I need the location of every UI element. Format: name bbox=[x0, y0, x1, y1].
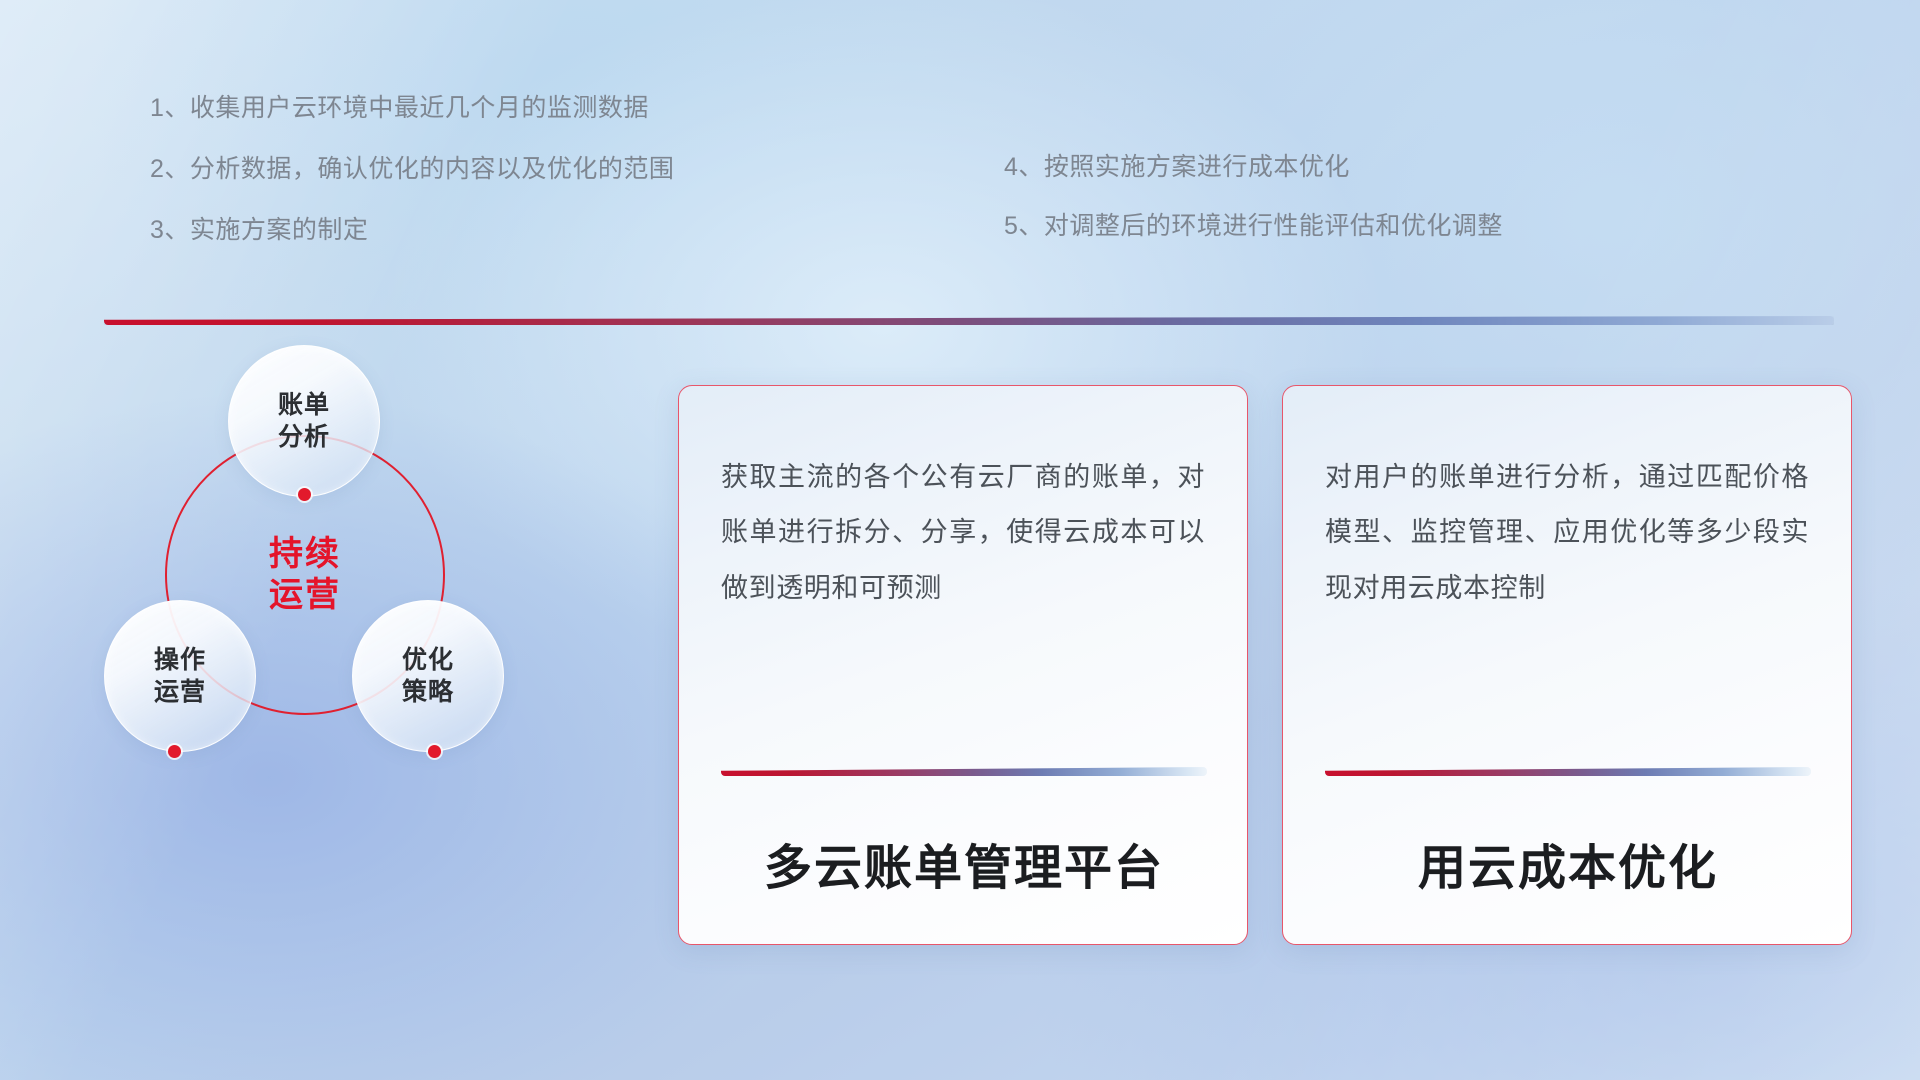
step-item-1: 1、收集用户云环境中最近几个月的监测数据 bbox=[150, 96, 674, 121]
step-item-4: 4、按照实施方案进行成本优化 bbox=[1004, 155, 1503, 180]
step-item-5: 5、对调整后的环境进行性能评估和优化调整 bbox=[1004, 214, 1503, 239]
card-divider bbox=[1325, 767, 1811, 776]
connector-dot-bottom-left bbox=[168, 745, 181, 758]
connector-dot-top bbox=[298, 488, 311, 501]
connector-dot-bottom-right bbox=[428, 745, 441, 758]
slide-canvas: 1、收集用户云环境中最近几个月的监测数据 2、分析数据，确认优化的内容以及优化的… bbox=[0, 0, 1920, 1080]
card-body-text: 获取主流的各个公有云厂商的账单，对账单进行拆分、分享，使得云成本可以做到透明和可… bbox=[721, 450, 1205, 616]
section-divider bbox=[104, 316, 1834, 325]
card-title: 多云账单管理平台 bbox=[721, 841, 1207, 896]
step-item-3: 3、实施方案的制定 bbox=[150, 218, 674, 243]
card-title: 用云成本优化 bbox=[1325, 841, 1811, 896]
node-label-line1: 账单 bbox=[278, 389, 330, 421]
center-label-line2: 运营 bbox=[269, 575, 341, 616]
center-label-line1: 持续 bbox=[269, 534, 341, 575]
card-divider bbox=[721, 767, 1207, 776]
steps-right-column: 4、按照实施方案进行成本优化 5、对调整后的环境进行性能评估和优化调整 bbox=[1004, 155, 1503, 273]
diagram-center-label: 持续 运营 bbox=[165, 435, 445, 715]
card-body-text: 对用户的账单进行分析，通过匹配价格模型、监控管理、应用优化等多少段实现对用云成本… bbox=[1325, 450, 1809, 616]
card-cloud-cost-optimization[interactable]: 对用户的账单进行分析，通过匹配价格模型、监控管理、应用优化等多少段实现对用云成本… bbox=[1282, 385, 1852, 945]
card-multi-cloud-billing-platform[interactable]: 获取主流的各个公有云厂商的账单，对账单进行拆分、分享，使得云成本可以做到透明和可… bbox=[678, 385, 1248, 945]
steps-left-column: 1、收集用户云环境中最近几个月的监测数据 2、分析数据，确认优化的内容以及优化的… bbox=[150, 96, 674, 279]
step-item-2: 2、分析数据，确认优化的内容以及优化的范围 bbox=[150, 157, 674, 182]
continuous-operation-diagram: 账单 分析 操作 运营 优化 策略 持续 运营 bbox=[90, 345, 560, 945]
